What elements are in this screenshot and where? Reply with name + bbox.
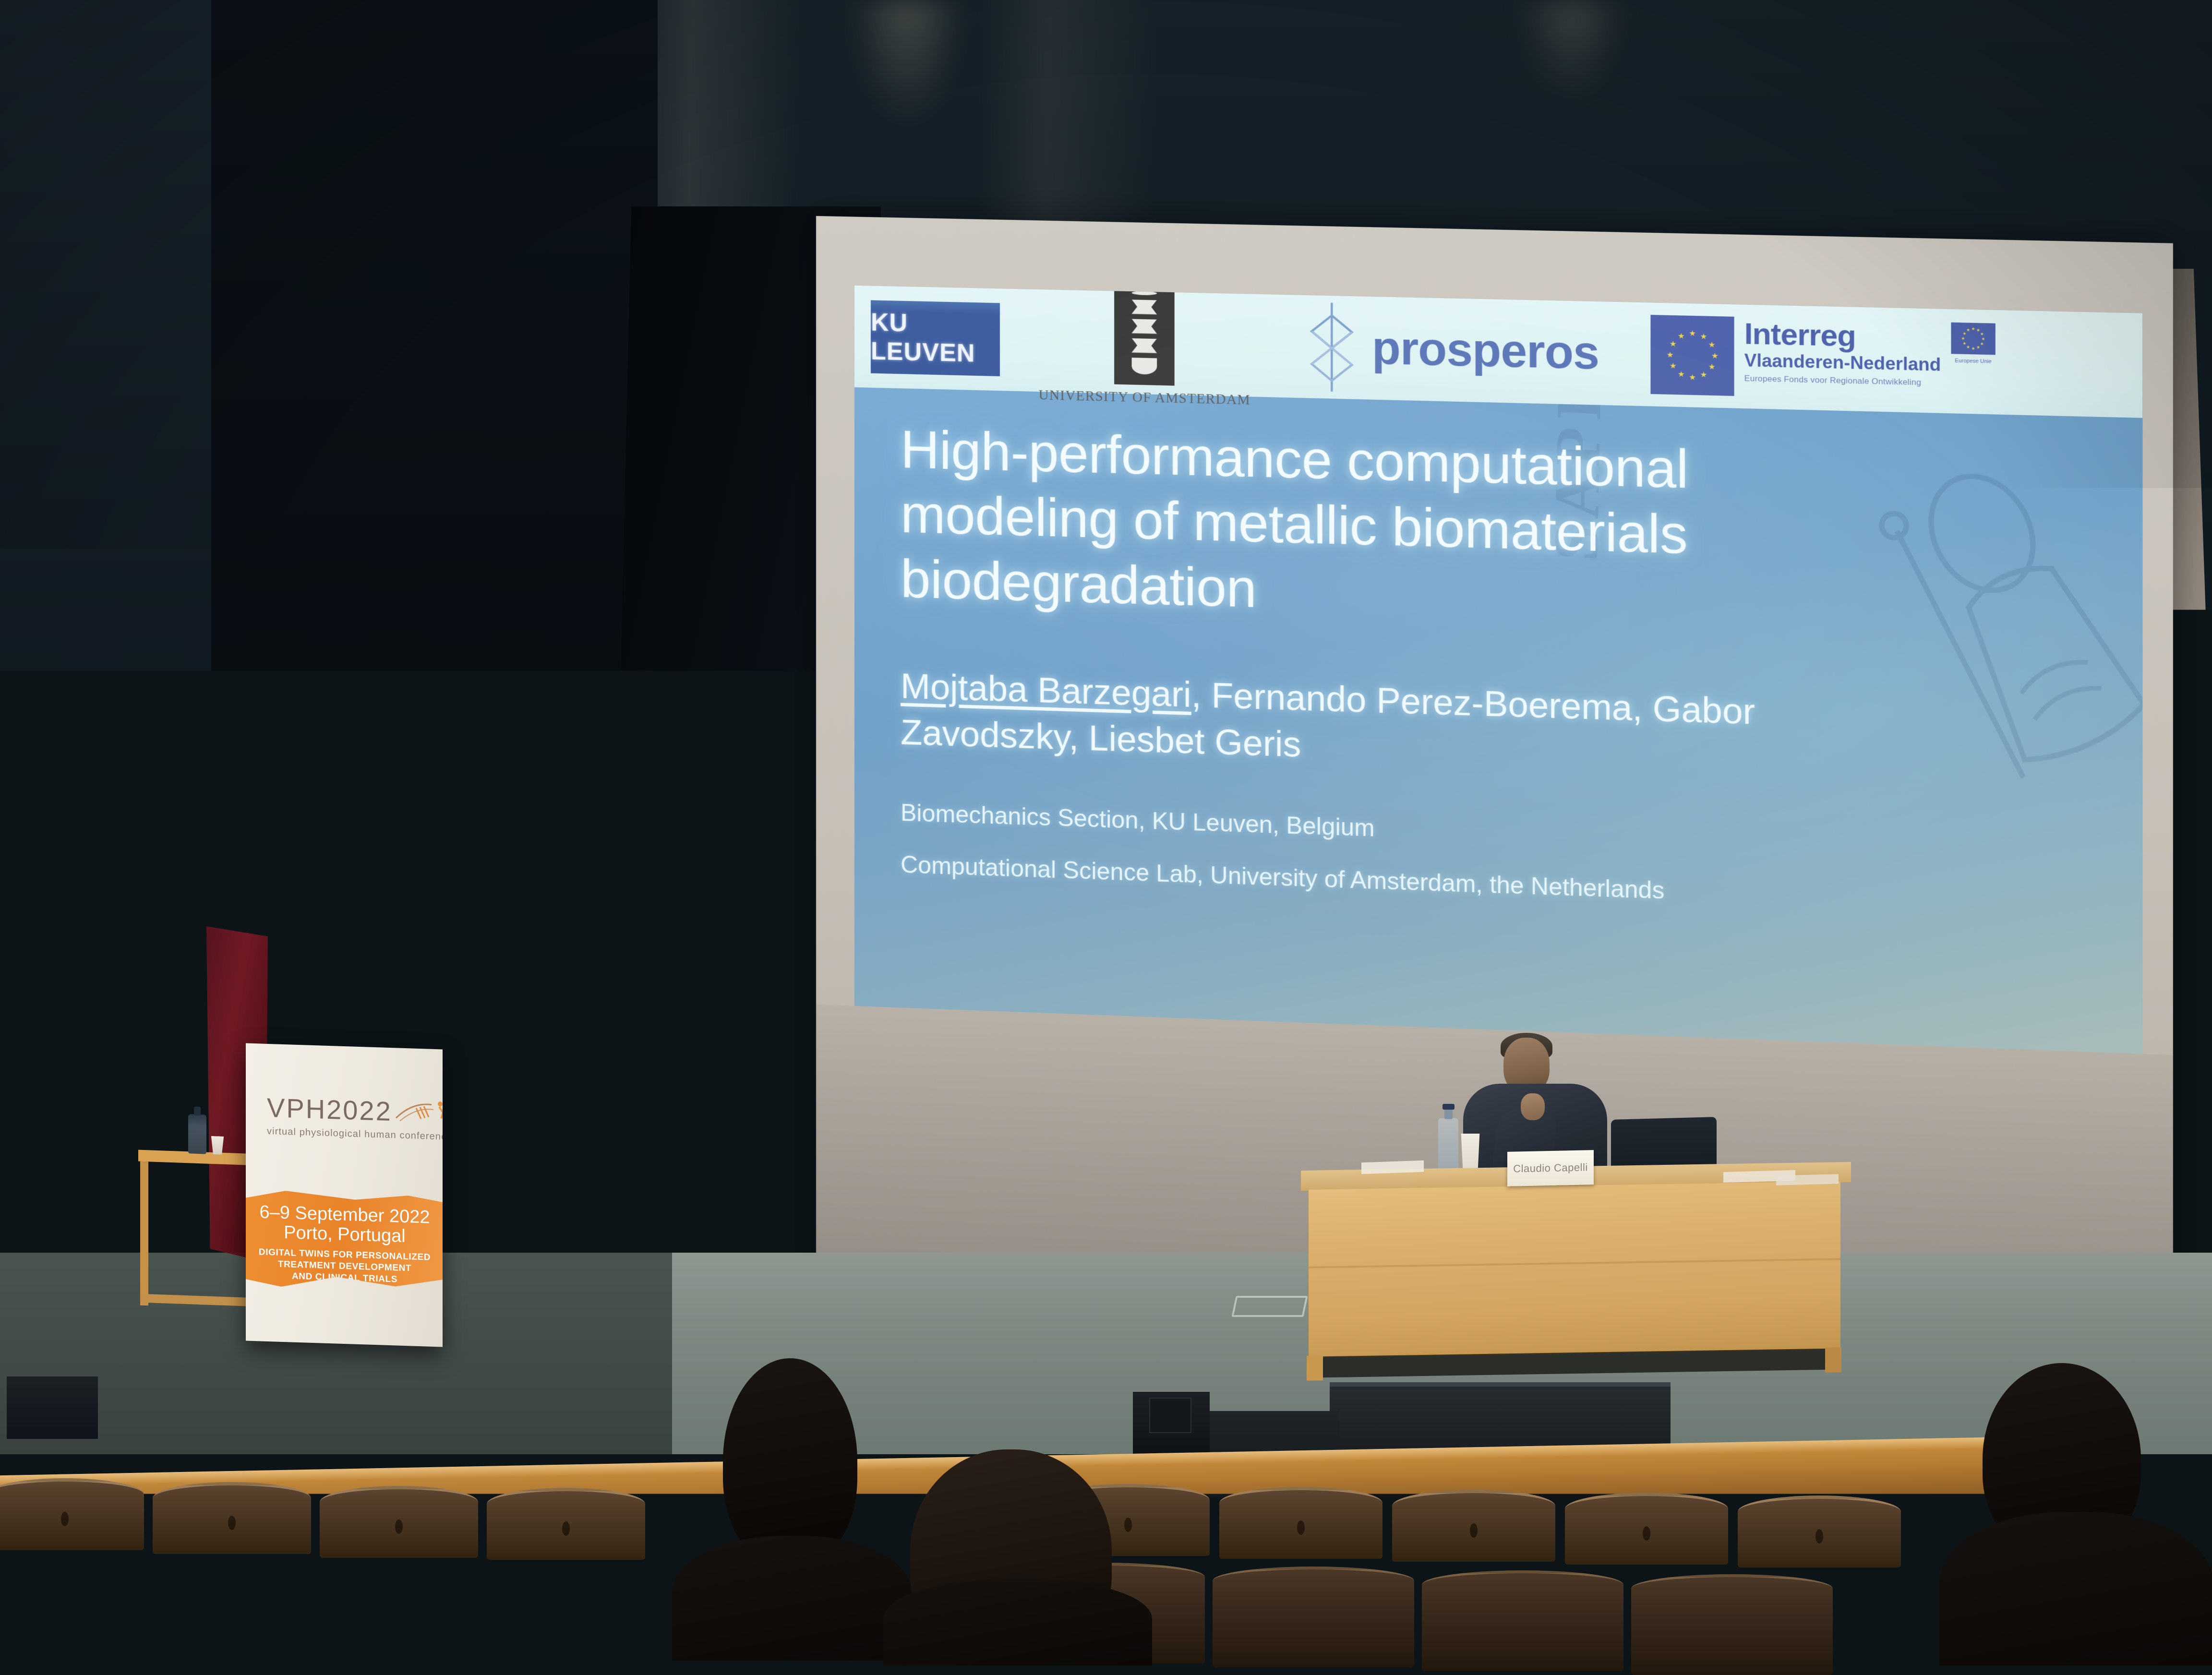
ceiling-light-streak-right xyxy=(1517,0,1627,101)
conference-tagline: virtual physiological human conference xyxy=(267,1126,430,1142)
eu-badge-caption: Europese Unie xyxy=(1951,358,1995,364)
conference-name-text: VPH2022 xyxy=(267,1094,392,1125)
eu-flag-icon xyxy=(1651,315,1734,396)
prosperos-logo: prosperos xyxy=(1304,297,1599,404)
podium-orange-band: 6–9 September 2022 Porto, Portugal DIGIT… xyxy=(246,1189,443,1292)
conference-dates-location: 6–9 September 2022 Porto, Portugal xyxy=(246,1189,443,1248)
interreg-subtitle: Vlaanderen-Nederland xyxy=(1744,350,1941,376)
podium-logo-block: VPH2022 virtual physiological human conf… xyxy=(267,1094,430,1142)
slide-title: High-performance computational modeling … xyxy=(901,417,1743,635)
slide-affiliations: Biomechanics Section, KU Leuven, Belgium… xyxy=(901,797,2112,921)
list-item[interactable] xyxy=(1565,1493,1728,1565)
chair-hand xyxy=(1521,1093,1545,1120)
flag-pole-secondary xyxy=(188,859,192,1109)
conference-theme: DIGITAL TWINS FOR PERSONALIZED TREATMENT… xyxy=(246,1246,443,1287)
audience-shoulders-center xyxy=(883,1579,1152,1665)
desk-front-panel xyxy=(1309,1181,1840,1357)
floor-outlet-plate xyxy=(1231,1296,1308,1317)
uva-shield-icon xyxy=(1114,286,1175,385)
list-item[interactable] xyxy=(1631,1574,1833,1675)
side-table xyxy=(138,1150,258,1313)
interreg-logo: Interreg Vlaanderen-Nederland Europees F… xyxy=(1651,315,1996,402)
slide-logo-bar: KU LEUVEN UNIVERSITY OF AMSTERDAM xyxy=(854,286,2142,418)
side-table-leg-left xyxy=(140,1161,148,1306)
conference-name: VPH2022 xyxy=(267,1094,430,1127)
audience-head-left xyxy=(723,1358,857,1565)
auditorium-scene: SAPIENTIA KU LEUVEN xyxy=(0,0,2212,1659)
list-item[interactable] xyxy=(0,1560,173,1661)
list-item[interactable] xyxy=(1392,1490,1555,1562)
list-item[interactable] xyxy=(1738,1496,1901,1567)
interreg-title: Interreg xyxy=(1744,319,1941,353)
desk-leg-left xyxy=(1307,1355,1323,1381)
list-item[interactable] xyxy=(380,1567,572,1668)
side-table-water-bottle xyxy=(188,1114,206,1154)
dna-runner-icon xyxy=(395,1098,443,1127)
eu-badge-icon: Europese Unie xyxy=(1951,323,1995,355)
desk-paper-1 xyxy=(1361,1161,1424,1174)
wall-mounted-box xyxy=(1149,1398,1191,1433)
uva-logo: UNIVERSITY OF AMSTERDAM xyxy=(1039,286,1250,408)
name-card: Claudio Capelli xyxy=(1507,1150,1594,1186)
presentation-slide: SAPIENTIA KU LEUVEN xyxy=(854,286,2142,1054)
audience-bag xyxy=(585,1483,724,1569)
list-item[interactable] xyxy=(1422,1570,1623,1671)
ceiling-light-streak-left xyxy=(850,0,965,125)
kuleuven-logo-text: KU LEUVEN xyxy=(871,308,1000,369)
left-floor-box xyxy=(7,1376,98,1439)
presenter-head xyxy=(343,924,393,985)
audience-shoulders-right xyxy=(1939,1512,2212,1665)
presenting-author: Mojtaba Barzegari xyxy=(901,666,1191,715)
list-item[interactable] xyxy=(0,1478,144,1550)
list-item[interactable] xyxy=(180,1564,373,1664)
side-table-lower-shelf xyxy=(140,1294,256,1306)
slide-content: High-performance computational modeling … xyxy=(901,417,2112,943)
desk-paper-3 xyxy=(1776,1174,1839,1185)
uva-logo-text: UNIVERSITY OF AMSTERDAM xyxy=(1039,387,1250,408)
list-item[interactable] xyxy=(1213,1567,1414,1667)
list-item[interactable] xyxy=(1219,1487,1382,1559)
desk-leg-right xyxy=(1825,1347,1841,1373)
slide-authors: Mojtaba Barzegari, Fernando Perez-Boerem… xyxy=(901,663,1763,783)
lectern-with-conference-banner: VPH2022 virtual physiological human conf… xyxy=(246,1043,443,1347)
prosperos-logo-text: prosperos xyxy=(1372,322,1599,380)
chair-desk xyxy=(1305,1162,1846,1372)
list-item[interactable] xyxy=(153,1482,311,1554)
interreg-fine-print: Europees Fonds voor Regionale Ontwikkeli… xyxy=(1744,373,1941,388)
name-card-text: Claudio Capelli xyxy=(1513,1161,1587,1175)
list-item[interactable] xyxy=(320,1486,478,1558)
kuleuven-logo: KU LEUVEN xyxy=(871,300,1000,376)
prosperos-mark-icon xyxy=(1304,297,1359,398)
